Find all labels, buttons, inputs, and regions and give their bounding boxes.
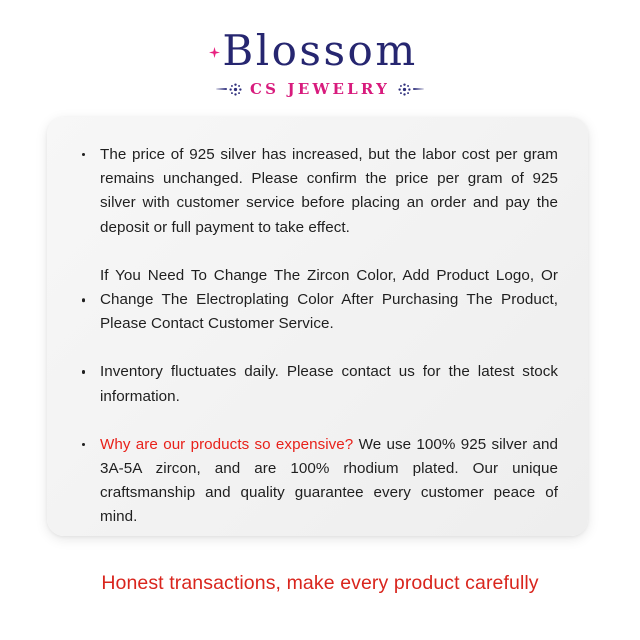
promo-banner: Blossom <box>0 0 640 640</box>
brand-header: Blossom <box>0 0 640 98</box>
sparkle-icon <box>209 47 220 58</box>
notice-text-inventory: Inventory fluctuates daily. Please conta… <box>100 363 558 404</box>
ornament-dash-left <box>216 88 227 90</box>
notice-text-customization: If You Need To Change The Zircon Color, … <box>100 267 558 332</box>
ornament-dash-right <box>413 88 424 90</box>
notice-item-inventory: Inventory fluctuates daily. Please conta… <box>77 360 558 408</box>
footer-tagline: Honest transactions, make every product … <box>0 570 640 596</box>
notice-item-customization: If You Need To Change The Zircon Color, … <box>77 264 558 337</box>
snowflake-icon-left <box>228 82 243 97</box>
notice-text-price: The price of 925 silver has increased, b… <box>100 146 558 236</box>
brand-subtitle: CS JEWELRY <box>250 80 390 98</box>
notice-highlight-quality: Why are our products so expensive? <box>100 436 353 453</box>
notice-item-quality: Why are our products so expensive? We us… <box>77 433 558 530</box>
notice-card: The price of 925 silver has increased, b… <box>47 117 588 536</box>
notice-item-price: The price of 925 silver has increased, b… <box>77 143 558 240</box>
brand-name-wrap: Blossom <box>0 27 640 75</box>
brand-name-text: Blossom <box>222 26 417 75</box>
ornament-left <box>216 82 243 97</box>
snowflake-icon-right <box>397 82 412 97</box>
brand-name: Blossom <box>222 27 417 75</box>
notice-list: The price of 925 silver has increased, b… <box>77 143 558 530</box>
brand-subtitle-row: CS JEWELRY <box>0 80 640 98</box>
ornament-right <box>397 82 424 97</box>
